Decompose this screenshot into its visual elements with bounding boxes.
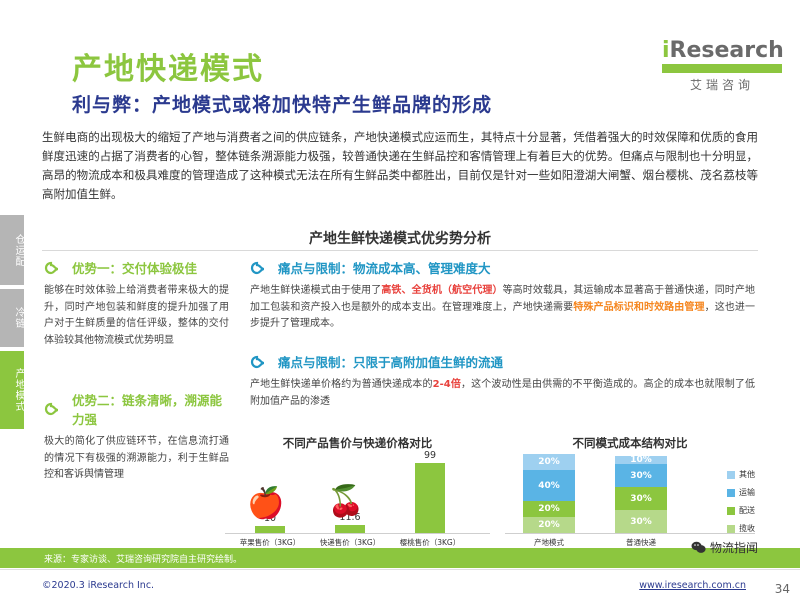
x-axis xyxy=(505,533,755,534)
legend-swatch xyxy=(727,471,735,479)
card-header: 痛点与限制：只限于高附加值生鲜的流通 xyxy=(250,352,755,371)
website-link[interactable]: www.iresearch.com.cn xyxy=(639,580,746,591)
stack-segment: 30% xyxy=(615,510,667,533)
card-painpoint-1: 痛点与限制：物流成本高、管理难度大 产地生鲜快递模式由于使用了高铁、全货机（航空… xyxy=(250,258,755,333)
card-title: 痛点与限制：只限于高附加值生鲜的流通 xyxy=(278,352,503,371)
sidebar-item-cold[interactable]: 冷链 xyxy=(0,289,24,347)
bar xyxy=(255,526,285,533)
card-header: 优势一：交付体验极佳 xyxy=(44,258,229,277)
infinity-icon xyxy=(44,401,66,417)
card-header: 优势二：链条清晰，溯源能力强 xyxy=(44,390,229,428)
wechat-icon xyxy=(691,541,706,554)
legend-label: 配送 xyxy=(739,505,755,516)
card-body: 产地生鲜快递单价格约为普通快递成本的2-4倍，这个波动性是由供需的不平衡造成的。… xyxy=(250,377,755,410)
slide-page: 仓运配 冷链 产地模式 产地快递模式 利与弊：产地模式或将加快特产生鲜品牌的形成… xyxy=(0,0,800,600)
intro-paragraph: 生鲜电商的出现极大的缩短了产地与消费者之间的供应链条，产地快递模式应运而生，其特… xyxy=(42,128,758,204)
logo-bar xyxy=(662,64,782,73)
stack-segment: 10% xyxy=(615,456,667,464)
legend-swatch xyxy=(727,525,735,533)
wechat-credit: 物流指闻 xyxy=(691,539,758,556)
stacked-bar: 20%40%20%20% xyxy=(523,454,575,533)
apple-icon: 🍎 xyxy=(247,489,284,519)
legend-item: 揽收 xyxy=(727,523,755,534)
chart-title: 不同产品售价与快递价格对比 xyxy=(225,435,490,451)
x-tick-label: 快递售价（3KG） xyxy=(319,537,381,548)
legend-item: 其他 xyxy=(727,469,755,480)
bar xyxy=(415,463,445,533)
charts-area: 不同产品售价与快递价格对比 1011.699 苹果售价（3KG）快递售价（3KG… xyxy=(225,435,755,563)
legend-label: 揽收 xyxy=(739,523,755,534)
section-title: 产地生鲜快递模式优劣势分析 xyxy=(0,228,800,248)
stack-segment: 20% xyxy=(523,501,575,517)
card-body: 产地生鲜快递模式由于使用了高铁、全货机（航空代理）等高时效载具，其运输成本显著高… xyxy=(250,283,755,333)
card-title: 优势一：交付体验极佳 xyxy=(72,258,197,277)
page-title: 产地快递模式 xyxy=(72,44,264,88)
page-number: 34 xyxy=(775,582,790,596)
sidebar-item-storage[interactable]: 仓运配 xyxy=(0,215,24,285)
card-advantage-2: 优势二：链条清晰，溯源能力强 极大的简化了供应链环节，在信息流打通的情况下有极强… xyxy=(44,390,229,484)
x-axis xyxy=(225,533,490,534)
chart-price-compare: 不同产品售价与快递价格对比 1011.699 苹果售价（3KG）快递售价（3KG… xyxy=(225,435,490,547)
bar-value-label: 99 xyxy=(410,450,450,461)
stack-segment: 40% xyxy=(523,470,575,501)
sidebar-item-origin[interactable]: 产地模式 xyxy=(0,351,24,429)
copyright-text: ©2020.3 iResearch Inc. xyxy=(42,580,154,591)
chart-cost-structure: 不同模式成本结构对比 20%40%20%20%10%30%30%30% 其他运输… xyxy=(505,435,755,547)
stack-segment: 30% xyxy=(615,464,667,487)
legend-item: 配送 xyxy=(727,505,755,516)
infinity-icon xyxy=(250,260,272,276)
stack-segment: 20% xyxy=(523,517,575,533)
page-subtitle: 利与弊：产地模式或将加快特产生鲜品牌的形成 xyxy=(72,90,492,117)
infinity-icon xyxy=(250,354,272,370)
card-body: 能够在时效体验上给消费者带来极大的提升，同时产地包装和鲜度的提升加强了用户对于生… xyxy=(44,283,229,349)
sidebar-item-label: 冷链 xyxy=(13,307,24,329)
card-header: 痛点与限制：物流成本高、管理难度大 xyxy=(250,258,755,277)
card-title: 痛点与限制：物流成本高、管理难度大 xyxy=(278,258,491,277)
legend-label: 其他 xyxy=(739,469,755,480)
iresearch-logo: iResearch 艾瑞咨询 xyxy=(662,38,782,93)
chart-legend: 其他运输配送揽收 xyxy=(727,469,755,541)
stacked-bar: 10%30%30%30% xyxy=(615,456,667,533)
wechat-name: 物流指闻 xyxy=(710,539,758,556)
chart-plot: 1011.699 苹果售价（3KG）快递售价（3KG）樱桃售价（3KG）🍎🍒 xyxy=(225,455,490,547)
card-advantage-1: 优势一：交付体验极佳 能够在时效体验上给消费者带来极大的提升，同时产地包装和鲜度… xyxy=(44,258,229,349)
chart-title: 不同模式成本结构对比 xyxy=(505,435,755,451)
source-text: 来源：专家访谈、艾瑞咨询研究院自主研究绘制。 xyxy=(44,552,242,565)
chart-plot: 20%40%20%20%10%30%30%30% 其他运输配送揽收 产地模式普通… xyxy=(505,455,755,547)
x-tick-label: 樱桃售价（3KG） xyxy=(399,537,461,548)
logo-text: iResearch xyxy=(662,38,782,63)
card-body: 极大的简化了供应链环节，在信息流打通的情况下有极强的溯源能力，利于生鲜品控和客诉… xyxy=(44,434,229,484)
legend-item: 运输 xyxy=(727,487,755,498)
footer: ©2020.3 iResearch Inc. www.iresearch.com… xyxy=(0,570,800,600)
logo-cn-text: 艾瑞咨询 xyxy=(662,76,782,93)
stack-segment: 30% xyxy=(615,487,667,510)
x-tick-label: 苹果售价（3KG） xyxy=(239,537,301,548)
cherry-icon: 🍒 xyxy=(327,487,364,517)
x-tick-label: 产地模式 xyxy=(514,537,584,548)
sidebar-item-label: 产地模式 xyxy=(13,368,24,412)
legend-swatch xyxy=(727,507,735,515)
card-title: 优势二：链条清晰，溯源能力强 xyxy=(72,390,229,428)
section-divider xyxy=(42,250,758,251)
legend-label: 运输 xyxy=(739,487,755,498)
bar xyxy=(335,525,365,533)
card-painpoint-2: 痛点与限制：只限于高附加值生鲜的流通 产地生鲜快递单价格约为普通快递成本的2-4… xyxy=(250,352,755,410)
legend-swatch xyxy=(727,489,735,497)
infinity-icon xyxy=(44,260,66,276)
x-tick-label: 普通快递 xyxy=(606,537,676,548)
stack-segment: 20% xyxy=(523,454,575,470)
